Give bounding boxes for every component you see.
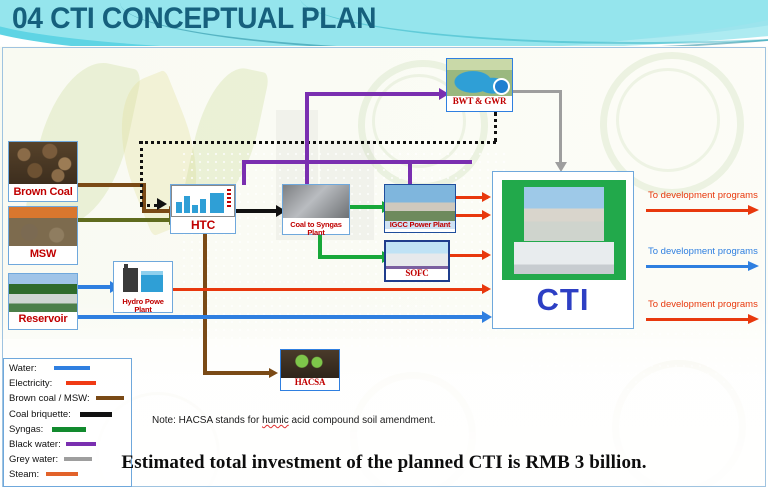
node-hydro-label: Hydro Powe Plant: [114, 296, 172, 314]
node-cti[interactable]: CTI: [492, 171, 634, 329]
cti-green-panel: [502, 180, 626, 280]
node-hacsa[interactable]: HACSA: [280, 349, 340, 391]
arrow-output-3: [748, 314, 759, 324]
legend-swatch-black-water: [66, 442, 96, 446]
investment-caption: Estimated total investment of the planne…: [0, 452, 768, 474]
legend-label-electricity: Electricity:: [9, 378, 52, 389]
legend-label-browncoal-msw: Brown coal / MSW:: [9, 393, 90, 404]
note-prefix: Note: HACSA stands for: [152, 415, 262, 426]
arrow-output-1: [748, 205, 759, 215]
node-htc-label: HTC: [171, 217, 235, 232]
node-bwt-gwr[interactable]: BWT & GWR: [446, 58, 513, 112]
line-syngas-to-sofc: [318, 255, 382, 259]
line-syngas-to-igcc: [350, 205, 382, 209]
line-briquette-into-htc: [140, 204, 157, 207]
line-output-1: [646, 209, 750, 212]
legend-swatch-browncoal-msw: [96, 396, 124, 400]
municipal-solid-waste-photo: [9, 207, 77, 246]
note-suffix: acid compound soil amendment.: [289, 415, 436, 426]
node-htc[interactable]: HTC: [170, 184, 236, 234]
arrow-sofc-elec: [482, 250, 491, 260]
hydro-power-plant-icon: [114, 262, 172, 296]
legend-swatch-electricity: [66, 381, 96, 385]
line-blackwater-htc-up: [242, 160, 246, 185]
line-reservoir-to-hydro: [78, 285, 114, 289]
cti-plant-photo: [514, 242, 614, 274]
line-output-2: [646, 265, 750, 268]
line-msw-to-htc: [78, 218, 169, 222]
legend-swatch-syngas: [52, 427, 86, 432]
node-coal-to-syngas-plant[interactable]: Coal to Syngas Plant: [282, 184, 350, 235]
cti-industrial-photo: [524, 187, 604, 241]
line-blackwater-igcc-up: [408, 160, 412, 185]
legend-item-water: Water:: [4, 359, 131, 374]
output-label-3: To development programs: [648, 299, 758, 310]
legend-label-water: Water:: [9, 363, 37, 374]
node-sofc-label: SOFC: [386, 269, 448, 278]
seedling-soil-photo: [281, 350, 339, 378]
node-hydro-power-plant[interactable]: Hydro Powe Plant: [113, 261, 173, 313]
line-greywater-right: [513, 90, 561, 93]
brown-coal-photo: [9, 142, 77, 184]
line-briquette-down-bwt: [494, 112, 497, 142]
node-bwt-label: BWT & GWR: [447, 96, 512, 106]
water-treatment-photo: [447, 59, 512, 96]
legend-swatch-coal-briquette: [80, 412, 112, 417]
legend-swatch-water: [54, 366, 90, 370]
node-hacsa-label: HACSA: [281, 378, 339, 387]
arrow-briquette-to-htc: [157, 198, 167, 210]
legend-label-coal-briquette: Coal briquette:: [9, 409, 71, 420]
node-msw[interactable]: MSW: [8, 206, 78, 265]
node-sofc[interactable]: SOFC: [384, 240, 450, 282]
output-label-1: To development programs: [648, 190, 758, 201]
recycle-badge-icon: [493, 78, 510, 95]
note-text: Note: HACSA stands for humic acid compou…: [152, 415, 436, 426]
arrow-igcc-elec-2: [482, 210, 491, 220]
line-reservoir-to-cti: [78, 315, 488, 319]
arrow-hydro-elec-to-cti: [482, 284, 491, 294]
sofc-plant-photo: [386, 242, 448, 269]
arrow-output-2: [748, 261, 759, 271]
igcc-power-plant-photo: [385, 185, 455, 221]
line-htc-down-hacsa: [203, 234, 207, 371]
line-hydro-elec: [172, 288, 488, 291]
note-misspelled-word: humic: [262, 415, 289, 426]
page-title: 04 CTI CONCEPTUAL PLAN: [12, 2, 376, 36]
node-reservoir-label: Reservoir: [9, 312, 77, 326]
output-label-2: To development programs: [648, 246, 758, 257]
arrow-to-hacsa: [269, 368, 278, 378]
node-brown-coal-label: Brown Coal: [9, 184, 77, 199]
line-htc-right-hacsa: [203, 371, 269, 375]
reservoir-dam-photo: [9, 274, 77, 312]
node-syngas-label: Coal to Syngas Plant: [283, 218, 349, 237]
legend-item-coal-briquette: Coal briquette:: [4, 405, 131, 420]
slide-canvas: 04 CTI CONCEPTUAL PLAN: [0, 0, 768, 488]
node-igcc-label: IGCC Power Plant: [385, 221, 455, 229]
line-briquette-down-left: [140, 141, 143, 205]
node-msw-label: MSW: [9, 246, 77, 261]
legend-item-electricity: Electricity:: [4, 374, 131, 389]
line-greywater-down: [559, 90, 562, 162]
line-blackwater-bus: [242, 160, 472, 164]
arrow-igcc-elec-1: [482, 192, 491, 202]
legend-label-syngas: Syngas:: [9, 424, 43, 435]
arrow-reservoir-to-cti: [482, 311, 492, 323]
line-browncoal-right: [78, 183, 144, 187]
node-igcc-power-plant[interactable]: IGCC Power Plant: [384, 184, 456, 233]
node-brown-coal[interactable]: Brown Coal: [8, 141, 78, 202]
htc-chart-icon: [171, 185, 235, 217]
line-blackwater-syngas-up: [305, 92, 309, 185]
line-htc-to-syngas: [236, 209, 276, 213]
line-output-3: [646, 318, 750, 321]
legend-item-black-water: Black water:: [4, 435, 131, 450]
legend-label-black-water: Black water:: [9, 439, 61, 450]
node-cti-label: CTI: [493, 282, 633, 318]
coal-to-syngas-plant-photo: [283, 185, 349, 218]
node-reservoir[interactable]: Reservoir: [8, 273, 78, 330]
line-briquette-top: [139, 141, 496, 144]
legend-item-browncoal-msw: Brown coal / MSW:: [4, 389, 131, 404]
legend-item-syngas: Syngas:: [4, 420, 131, 435]
line-blackwater-to-bwt: [305, 92, 439, 96]
